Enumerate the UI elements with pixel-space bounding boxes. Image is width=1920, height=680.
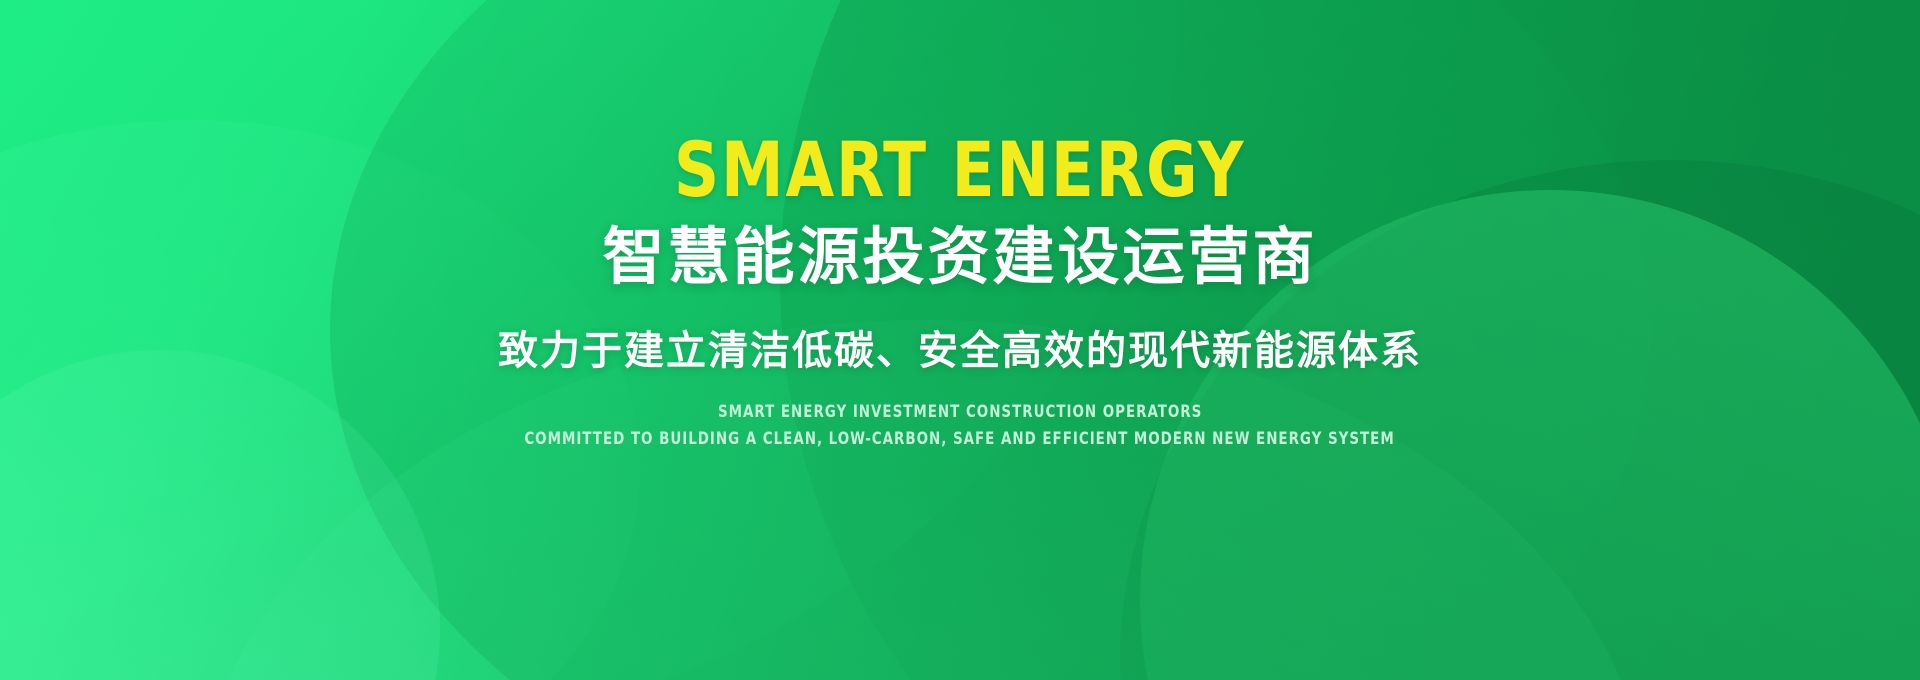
- banner-title-english: SMART ENERGY: [674, 132, 1245, 208]
- banner-title-chinese: 智慧能源投资建设运营商: [602, 222, 1317, 291]
- banner-content: SMART ENERGY 智慧能源投资建设运营商 致力于建立清洁低碳、安全高效的…: [0, 0, 1920, 680]
- hero-banner: SMART ENERGY 智慧能源投资建设运营商 致力于建立清洁低碳、安全高效的…: [0, 0, 1920, 680]
- banner-caption-line-1: SMART ENERGY INVESTMENT CONSTRUCTION OPE…: [718, 401, 1202, 424]
- banner-caption-group: SMART ENERGY INVESTMENT CONSTRUCTION OPE…: [465, 401, 1454, 451]
- banner-caption-line-2: COMMITTED TO BUILDING A CLEAN, LOW-CARBO…: [525, 428, 1395, 451]
- banner-subtitle-chinese: 致力于建立清洁低碳、安全高效的现代新能源体系: [498, 327, 1422, 375]
